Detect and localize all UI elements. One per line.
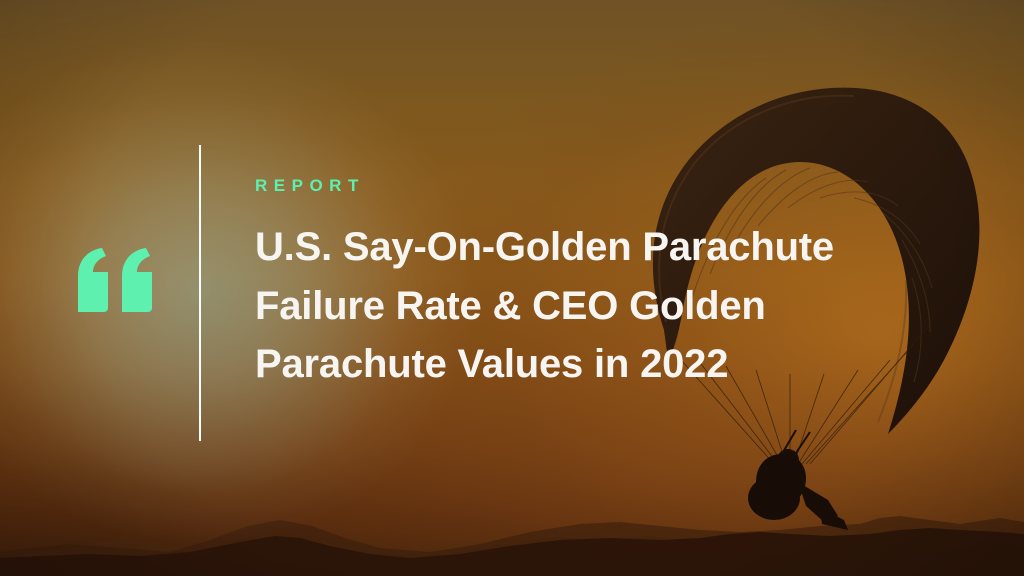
text-block: REPORT U.S. Say-On-Golden Parachute Fail… (255, 176, 955, 394)
headline-line-2: Failure Rate & CEO Golden (255, 277, 955, 335)
page-title: U.S. Say-On-Golden Parachute Failure Rat… (255, 218, 955, 393)
headline-line-3: Parachute Values in 2022 (255, 335, 955, 393)
eyebrow-label: REPORT (255, 176, 955, 196)
left-double-quotation-mark-icon (72, 248, 156, 312)
card-content: REPORT U.S. Say-On-Golden Parachute Fail… (0, 0, 1024, 576)
report-title-card: REPORT U.S. Say-On-Golden Parachute Fail… (0, 0, 1024, 576)
headline-line-1: U.S. Say-On-Golden Parachute (255, 218, 955, 276)
vertical-rule-divider (199, 145, 201, 441)
